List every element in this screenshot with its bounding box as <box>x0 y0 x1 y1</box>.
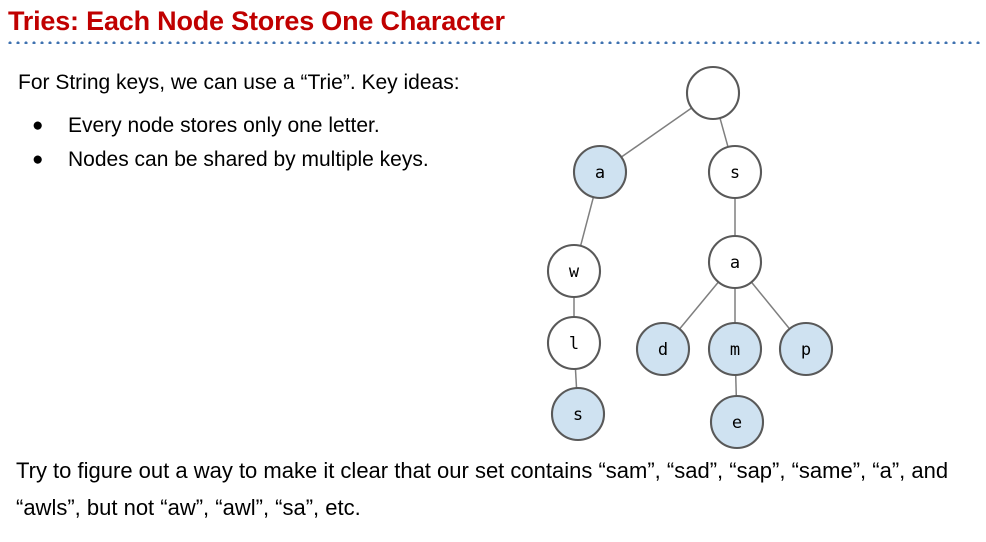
trie-node-root[interactable] <box>687 67 739 119</box>
trie-node-w[interactable]: w <box>548 245 600 297</box>
trie-node-a1[interactable]: a <box>574 146 626 198</box>
page-title: Tries: Each Node Stores One Character <box>8 4 505 38</box>
trie-node-l[interactable]: l <box>548 317 600 369</box>
list-item-label: Nodes can be shared by multiple keys. <box>68 144 429 176</box>
trie-edge-a2-p <box>751 281 790 329</box>
trie-node-p[interactable]: p <box>780 323 832 375</box>
intro-paragraph: For String keys, we can use a “Trie”. Ke… <box>18 70 460 96</box>
trie-node-a2[interactable]: a <box>709 236 761 288</box>
trie-edge-a2-d <box>679 281 719 329</box>
trie-node-label: a <box>730 253 740 273</box>
trie-edge-root-s1 <box>720 117 729 148</box>
bullet-dot-icon: ● <box>32 144 50 176</box>
trie-edge-l-s2 <box>575 368 576 389</box>
trie-node-label: p <box>801 340 811 360</box>
trie-node-label: s <box>730 163 740 183</box>
list-item: ● Nodes can be shared by multiple keys. <box>18 144 538 178</box>
trie-node-s1[interactable]: s <box>709 146 761 198</box>
trie-node-s2[interactable]: s <box>552 388 604 440</box>
trie-node-label: e <box>732 413 742 433</box>
trie-edge-a1-w <box>580 196 593 247</box>
list-item-label: Every node stores only one letter. <box>68 110 380 142</box>
trie-node-label: m <box>730 340 740 360</box>
trie-node-m[interactable]: m <box>709 323 761 375</box>
trie-edge-m-e <box>736 374 737 397</box>
bullet-list: ● Every node stores only one letter. ● N… <box>18 110 538 178</box>
list-item: ● Every node stores only one letter. <box>18 110 538 144</box>
closing-paragraph: Try to figure out a way to make it clear… <box>16 452 966 526</box>
trie-node-layer: aswaldmpse <box>548 67 832 448</box>
trie-node-circle <box>687 67 739 119</box>
title-divider <box>6 40 980 44</box>
trie-node-e[interactable]: e <box>711 396 763 448</box>
trie-node-d[interactable]: d <box>637 323 689 375</box>
trie-node-label: s <box>573 405 583 425</box>
trie-node-label: a <box>595 163 605 183</box>
trie-node-label: l <box>569 334 579 354</box>
trie-edge-root-a1 <box>620 107 692 157</box>
trie-node-label: d <box>658 340 668 360</box>
trie-node-label: w <box>569 262 580 282</box>
bullet-dot-icon: ● <box>32 110 50 142</box>
